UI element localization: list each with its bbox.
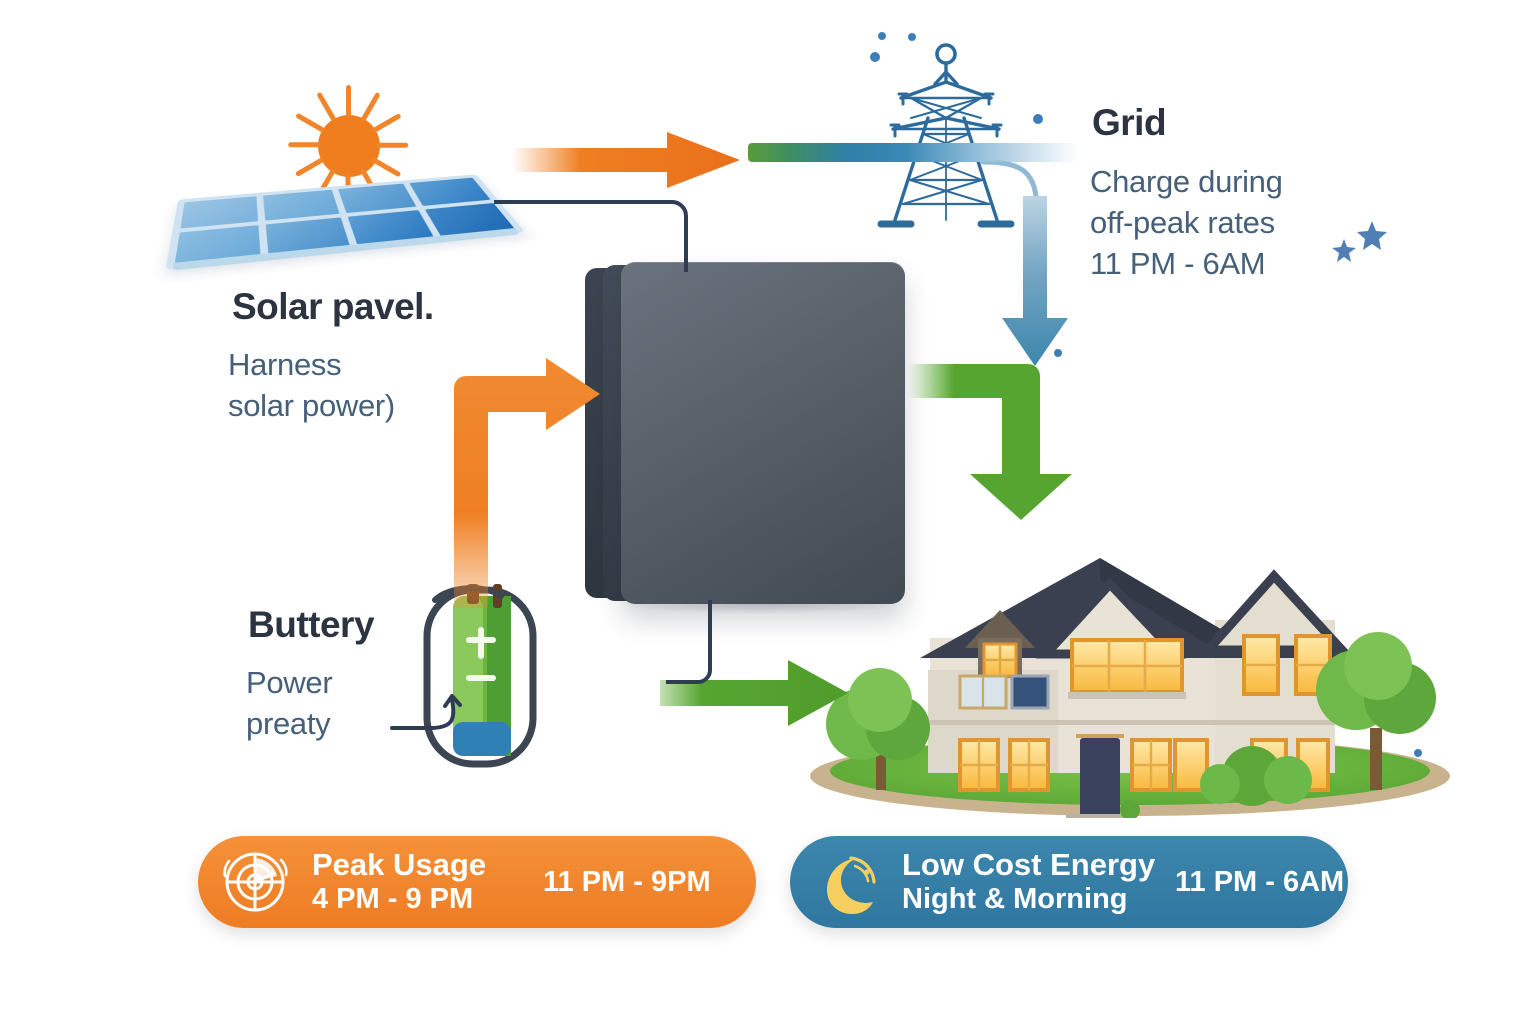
arrow-grid-to-unit	[1000, 196, 1070, 368]
arrow-unit-to-house-upper	[908, 362, 1078, 522]
decorative-dot-icon	[1050, 345, 1070, 365]
battery-description: Power preaty	[246, 663, 332, 745]
solar-panel-icon	[168, 60, 518, 275]
decorative-dot-icon	[900, 25, 940, 65]
peak-usage-label: Peak Usage	[312, 848, 486, 883]
arrow-solar-to-grid	[512, 130, 742, 190]
infographic-canvas: Solar pavel. Harness solar power)	[0, 0, 1536, 1024]
sparkle-stars-icon	[1330, 215, 1400, 265]
solar-title: Solar pavel.	[232, 288, 434, 327]
arrow-battery-to-unit	[442, 358, 602, 608]
decorative-dot-icon	[1410, 745, 1430, 765]
connector-unit-to-lower-arrow	[660, 600, 750, 700]
peak-usage-badge[interactable]: Peak Usage 4 PM - 9 PM 11 PM - 9PM	[198, 836, 756, 928]
peak-usage-time: 11 PM - 9PM	[543, 866, 711, 899]
low-cost-time: 11 PM - 6AM	[1175, 866, 1344, 899]
low-cost-label: Low Cost Energy	[902, 848, 1155, 883]
peak-usage-hours: 4 PM - 9 PM	[312, 883, 486, 915]
connector-solar-to-unit	[492, 190, 702, 280]
solar-description: Harness solar power)	[228, 345, 395, 427]
house-illustration	[800, 528, 1460, 818]
battery-label-connector	[390, 676, 480, 746]
low-cost-energy-badge[interactable]: Low Cost Energy Night & Morning 11 PM - …	[790, 836, 1348, 928]
grid-description: Charge during off-peak rates 11 PM - 6AM	[1090, 162, 1283, 285]
grid-title: Grid	[1092, 104, 1166, 143]
battery-title: Buttery	[248, 606, 374, 645]
radar-gauge-icon	[212, 846, 298, 918]
green-blue-flow-bar	[748, 143, 1078, 162]
low-cost-period: Night & Morning	[902, 883, 1155, 915]
crescent-moon-icon	[804, 846, 890, 918]
